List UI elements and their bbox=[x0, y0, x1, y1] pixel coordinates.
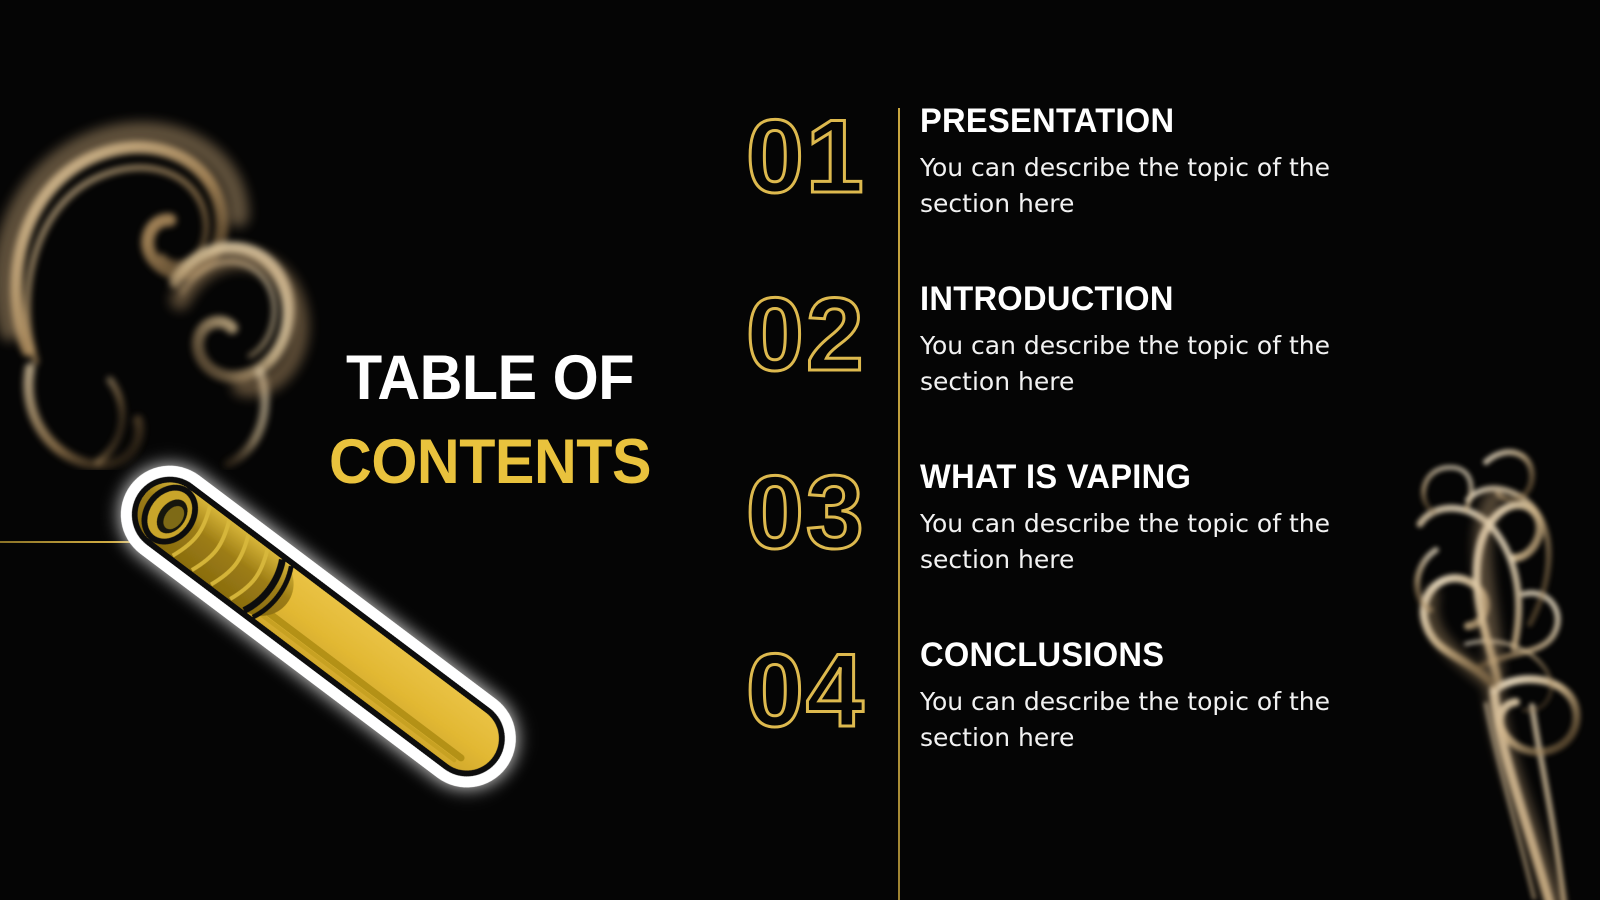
toc-number-02-text: 02 bbox=[746, 278, 866, 386]
toc-item-03[interactable]: 03 WHAT IS VAPING You can describe the t… bbox=[744, 456, 1364, 634]
toc-number-04-text: 04 bbox=[746, 634, 866, 742]
table-of-contents-list: 01 PRESENTATION You can describe the top… bbox=[744, 100, 1364, 812]
toc-heading-02: INTRODUCTION bbox=[920, 282, 1346, 316]
toc-number-02: 02 bbox=[744, 278, 898, 386]
toc-number-03: 03 bbox=[744, 456, 898, 564]
title-line-one: TABLE OF bbox=[293, 348, 688, 408]
toc-heading-04: CONCLUSIONS bbox=[920, 638, 1346, 672]
toc-heading-01: PRESENTATION bbox=[920, 104, 1346, 138]
left-accent-rule bbox=[0, 541, 160, 543]
toc-description-02: You can describe the topic of the sectio… bbox=[920, 328, 1340, 399]
toc-item-01[interactable]: 01 PRESENTATION You can describe the top… bbox=[744, 100, 1364, 278]
toc-text-04: CONCLUSIONS You can describe the topic o… bbox=[898, 634, 1364, 755]
toc-text-01: PRESENTATION You can describe the topic … bbox=[898, 100, 1364, 221]
toc-item-02[interactable]: 02 INTRODUCTION You can describe the top… bbox=[744, 278, 1364, 456]
toc-number-04: 04 bbox=[744, 634, 898, 742]
toc-description-04: You can describe the topic of the sectio… bbox=[920, 684, 1340, 755]
page-title: TABLE OF CONTENTS bbox=[280, 348, 700, 493]
toc-item-04[interactable]: 04 CONCLUSIONS You can describe the topi… bbox=[744, 634, 1364, 812]
toc-number-01: 01 bbox=[744, 100, 898, 208]
cigarette-illustration bbox=[100, 440, 620, 840]
slide-root: TABLE OF CONTENTS 01 PRESENTATION You ca… bbox=[0, 0, 1600, 900]
toc-heading-03: WHAT IS VAPING bbox=[920, 460, 1346, 494]
toc-text-03: WHAT IS VAPING You can describe the topi… bbox=[898, 456, 1364, 577]
toc-number-03-text: 03 bbox=[746, 456, 866, 564]
toc-number-01-text: 01 bbox=[746, 100, 866, 208]
toc-description-01: You can describe the topic of the sectio… bbox=[920, 150, 1340, 221]
toc-text-02: INTRODUCTION You can describe the topic … bbox=[898, 278, 1364, 399]
toc-description-03: You can describe the topic of the sectio… bbox=[920, 506, 1340, 577]
title-line-two: CONTENTS bbox=[293, 432, 688, 492]
